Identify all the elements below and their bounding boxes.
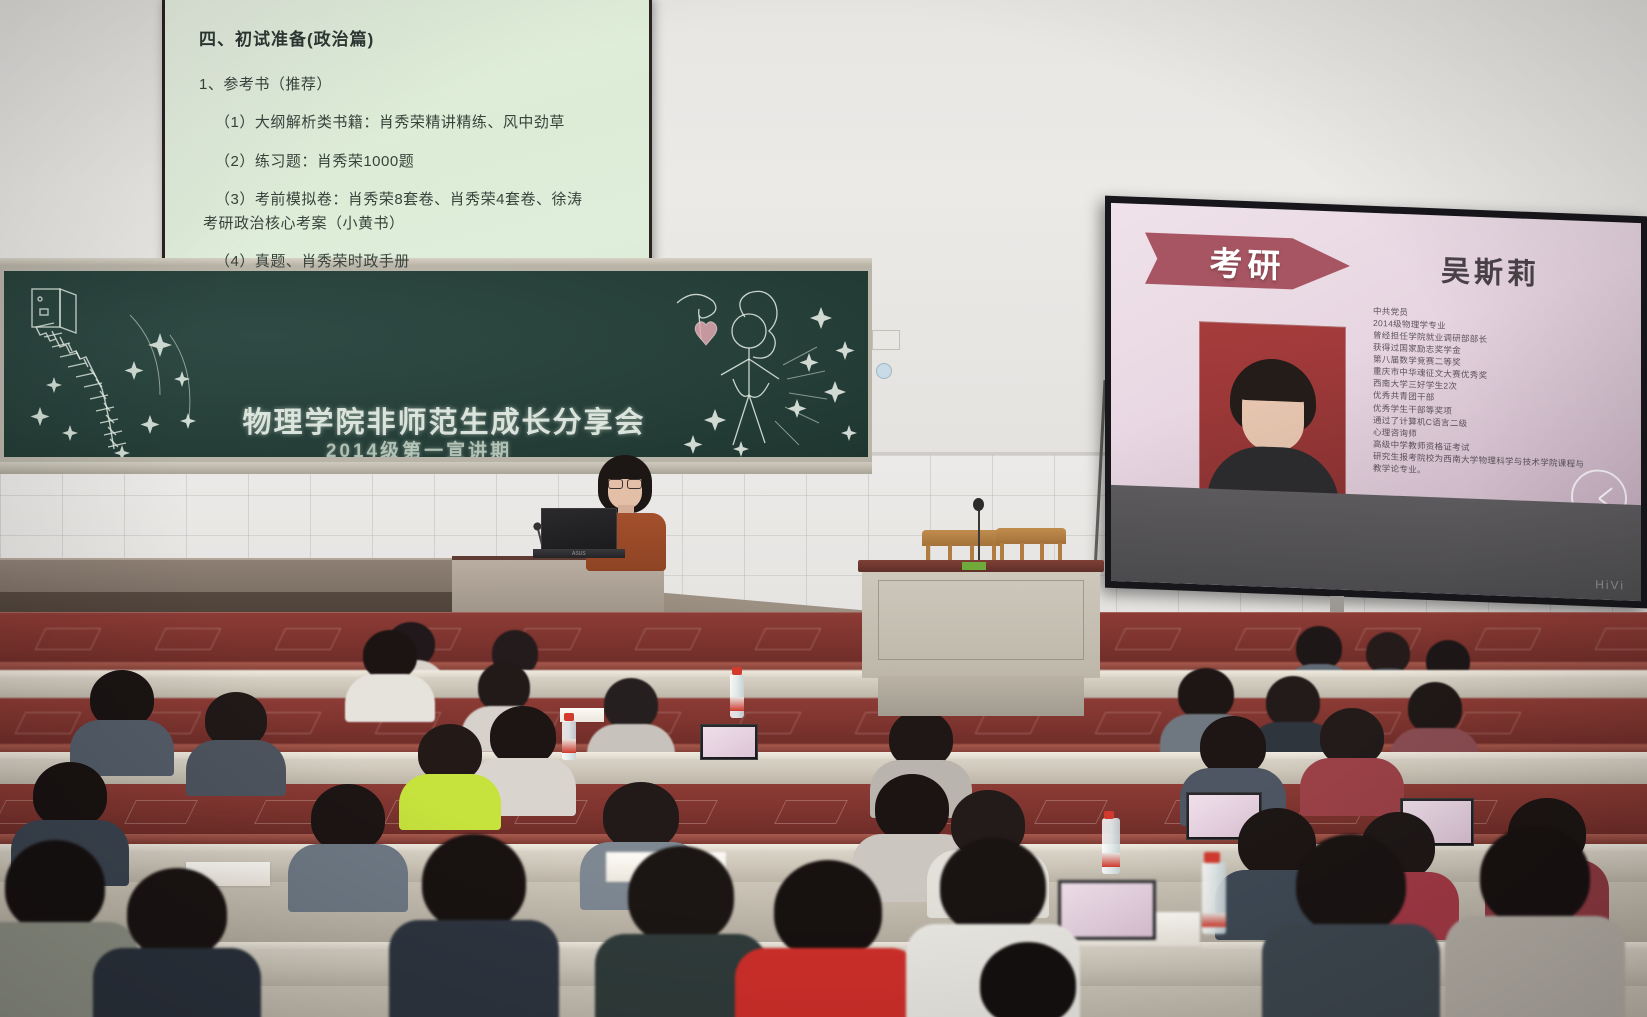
audience-person bbox=[968, 942, 1088, 1017]
wall-switch-panel[interactable] bbox=[872, 330, 900, 350]
lectern bbox=[862, 566, 1100, 678]
slide-line-5: 考研政治核心考案（小黄书） bbox=[199, 215, 633, 232]
blackboard-subtitle: 2014级第一宣讲期 bbox=[254, 436, 584, 457]
lectern-microphone-icon bbox=[978, 508, 980, 562]
slide-line-4: （3）考前模拟卷：肖秀荣8套卷、肖秀荣4套卷、徐涛 bbox=[199, 191, 633, 208]
water-bottle bbox=[1202, 862, 1226, 934]
wall-sensor-icon bbox=[876, 363, 892, 379]
audience-person bbox=[614, 846, 748, 1017]
audience-person bbox=[354, 630, 426, 714]
audience-person bbox=[300, 784, 396, 908]
laptop-brand-label: ASUS bbox=[572, 551, 586, 557]
tv-lower-bezel-area bbox=[1111, 485, 1641, 601]
audience-person bbox=[196, 692, 276, 790]
glasses-icon bbox=[608, 479, 642, 487]
audience-person bbox=[80, 670, 164, 770]
lectern-base bbox=[878, 676, 1084, 716]
audience-seating-area bbox=[0, 612, 1647, 1017]
lectern-front-panel bbox=[878, 580, 1084, 660]
heart-balloon-icon bbox=[695, 322, 717, 345]
projector-screen: 四、初试准备(政治篇) 1、参考书（推荐） （1）大纲解析类书籍：肖秀荣精讲精练… bbox=[162, 0, 652, 364]
chalk-tray bbox=[0, 462, 872, 474]
staircase-door-chalk-icon bbox=[10, 275, 210, 457]
lecture-hall-photo: 四、初试准备(政治篇) 1、参考书（推荐） （1）大纲解析类书籍：肖秀荣精讲精练… bbox=[0, 0, 1647, 1017]
slide-content: 四、初试准备(政治篇) 1、参考书（推荐） （1）大纲解析类书籍：肖秀荣精讲精练… bbox=[165, 0, 649, 361]
blackboard-title: 物理学院非师范生成长分享会 bbox=[214, 399, 674, 441]
audience-person bbox=[596, 678, 666, 762]
water-bottle bbox=[730, 674, 744, 718]
water-bottle bbox=[1102, 818, 1120, 874]
slide-title: 四、初试准备(政治篇) bbox=[199, 25, 633, 50]
presenter-laptop-screen bbox=[541, 508, 617, 552]
audience-person bbox=[408, 724, 492, 824]
audience-person bbox=[408, 834, 540, 1016]
audience-person bbox=[752, 904, 904, 1017]
audience-person bbox=[1282, 834, 1420, 1017]
lectern-green-object bbox=[962, 562, 986, 570]
slide-line-6: （4）真题、肖秀荣时政手册 bbox=[199, 253, 633, 270]
projected-slide: 四、初试准备(政治篇) 1、参考书（推荐） （1）大纲解析类书籍：肖秀荣精讲精练… bbox=[165, 0, 649, 361]
presenter-fringe bbox=[602, 461, 648, 479]
tv-slide: 考研 吴斯莉 中共党员 2014级物理学专业 曾经担任学院就业调研部部长 获得过… bbox=[1111, 203, 1641, 601]
slide-line-2: （1）大纲解析类书籍：肖秀荣精讲精练、风中劲草 bbox=[199, 114, 633, 131]
audience-person bbox=[112, 868, 242, 1017]
student-laptop[interactable] bbox=[700, 724, 758, 760]
student-laptop[interactable] bbox=[1058, 880, 1156, 940]
led-display-panel: 考研 吴斯莉 中共党员 2014级物理学专业 曾经担任学院就业调研部部长 获得过… bbox=[1105, 196, 1647, 609]
slide-line-1: 1、参考书（推荐） bbox=[199, 76, 633, 93]
slide-line-3: （2）练习题：肖秀荣1000题 bbox=[199, 153, 633, 170]
audience-person bbox=[1310, 708, 1394, 812]
girl-heart-balloon-chalk-icon bbox=[649, 275, 864, 457]
audience-person bbox=[1466, 826, 1604, 1016]
tv-brand-label: HiVi bbox=[1595, 577, 1625, 592]
